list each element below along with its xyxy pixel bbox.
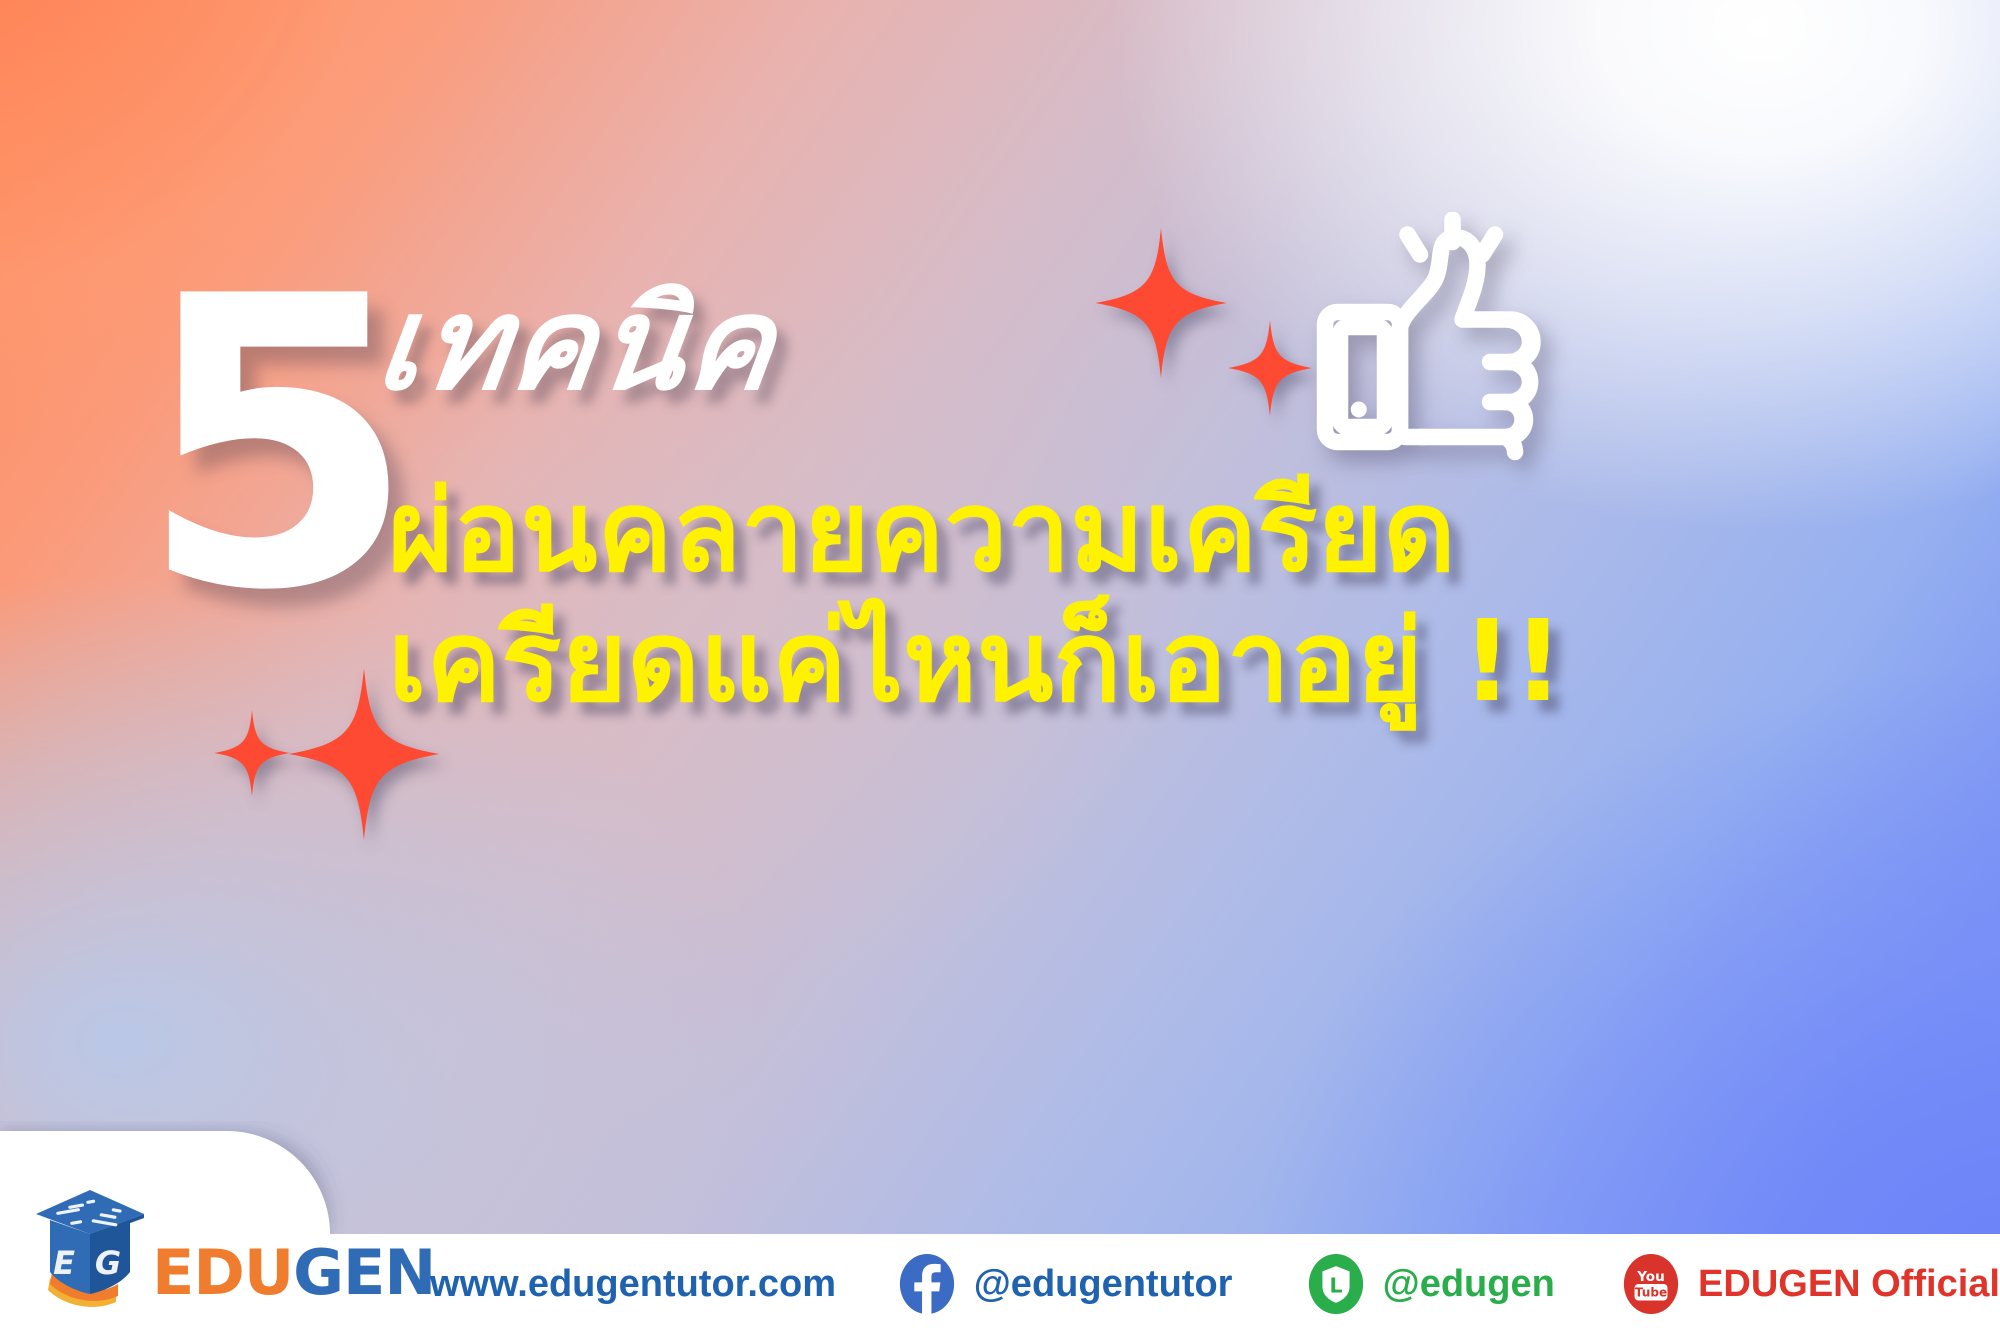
social-item-line[interactable]: L @edugen xyxy=(1305,1253,1555,1315)
brand-logo[interactable]: E G EDUGEN xyxy=(34,1186,435,1308)
line-icon[interactable]: L xyxy=(1305,1253,1367,1315)
youtube-icon[interactable]: You Tube xyxy=(1620,1253,1682,1315)
social-item-youtube[interactable]: You Tube EDUGEN Official xyxy=(1620,1253,2000,1315)
headline-yellow-line-2: เครียดแค่ไหนก็เอาอยู่ !! xyxy=(388,606,1564,718)
headline-yellow-line-1: ผ่อนคลายความเครียด xyxy=(388,476,1456,588)
poster-canvas: 5 เทคนิค ผ่อนคลายความเครียด เครียดแค่ไหน… xyxy=(0,0,2000,1334)
footer-bar: E G EDUGEN www.edugentutor.com @edugentu… xyxy=(0,1131,2000,1334)
headline-number: 5 xyxy=(138,282,410,610)
brand-wordmark-edu: EDU xyxy=(152,1236,293,1309)
social-links-row: www.edugentutor.com @edugentutor L @edug… xyxy=(430,1234,2000,1334)
brand-wordmark: EDUGEN xyxy=(152,1242,435,1308)
svg-text:L: L xyxy=(1329,1274,1342,1298)
social-item-website[interactable]: www.edugentutor.com xyxy=(430,1265,836,1303)
svg-text:You: You xyxy=(1636,1269,1665,1285)
svg-text:Tube: Tube xyxy=(1635,1286,1667,1300)
brand-wordmark-gen: GEN xyxy=(293,1236,435,1309)
social-item-facebook[interactable]: @edugentutor xyxy=(896,1253,1233,1315)
line-handle-label[interactable]: @edugen xyxy=(1383,1265,1555,1303)
headline-white-line: เทคนิค xyxy=(370,281,783,409)
graduation-cap-logo-icon: E G xyxy=(34,1186,146,1308)
website-url-label[interactable]: www.edugentutor.com xyxy=(430,1265,836,1303)
facebook-icon[interactable] xyxy=(896,1253,958,1315)
youtube-channel-label[interactable]: EDUGEN Official xyxy=(1698,1265,2000,1303)
facebook-handle-label[interactable]: @edugentutor xyxy=(974,1265,1233,1303)
svg-text:E: E xyxy=(53,1244,75,1282)
svg-text:G: G xyxy=(95,1244,121,1282)
